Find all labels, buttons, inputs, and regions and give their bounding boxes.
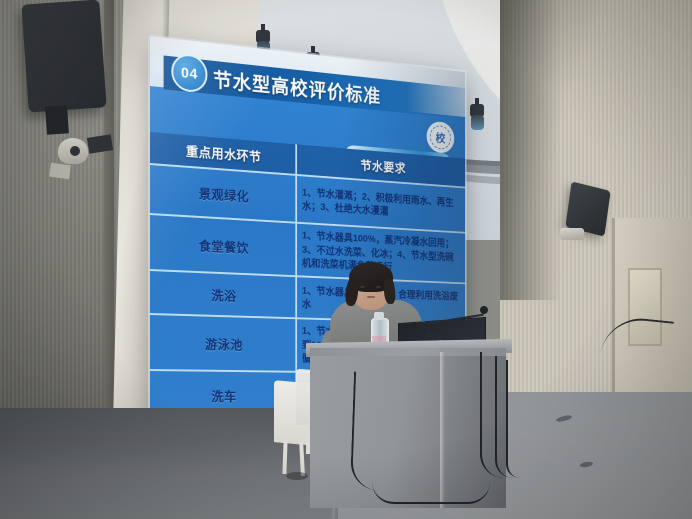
conference-room-photo: 04 节水型高校评价标准 校 节水管理评价指标 重点用水环节 节水要求 <box>0 0 692 519</box>
chair-shadow <box>286 472 308 480</box>
track-light-icon <box>470 104 484 117</box>
row-area-cell: 食堂餐饮 <box>150 215 297 275</box>
water-bottle-cap <box>374 312 384 320</box>
row-area-cell: 游泳池 <box>150 315 297 371</box>
track-light-icon <box>256 30 270 43</box>
left-wall-seam <box>104 0 114 430</box>
speaker-left <box>21 0 106 113</box>
presenter-eye <box>360 286 365 288</box>
right-wall-shadow <box>500 0 560 300</box>
microphone-head-icon <box>480 306 488 314</box>
cable-floor-run <box>372 482 490 504</box>
speaker-left-mount <box>45 105 69 134</box>
institution-seal-icon: 校 <box>425 119 456 156</box>
ptz-camera-left-base <box>49 163 71 180</box>
presenter-eye <box>376 286 381 288</box>
cable <box>506 360 520 478</box>
seal-inner-ring: 校 <box>430 125 451 151</box>
ptz-camera-left-lens-icon <box>70 146 80 156</box>
cable <box>350 372 382 491</box>
presenter-mouth <box>367 296 375 298</box>
ptz-camera-right-icon <box>560 228 584 240</box>
row-area-cell: 景观绿化 <box>150 165 297 222</box>
row-area-cell: 洗浴 <box>150 271 297 317</box>
